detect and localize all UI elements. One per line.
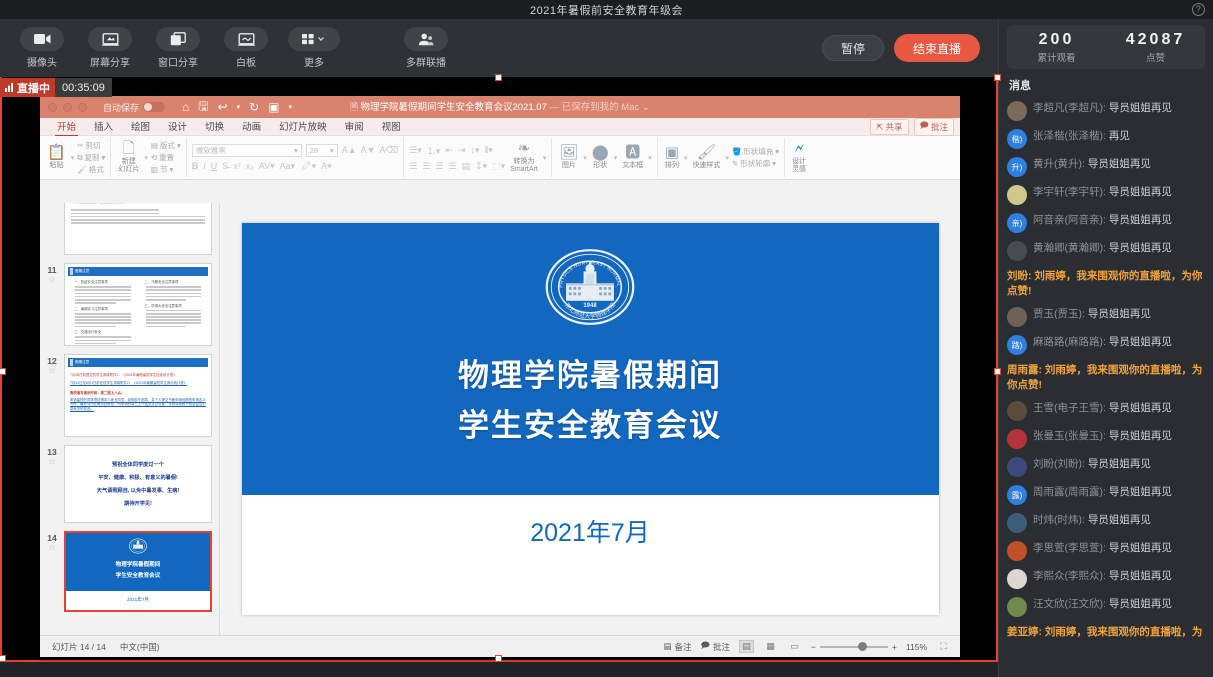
- toolbar-label: 多群联播: [406, 54, 446, 69]
- thumbnail-header-text: 假期注意: [75, 360, 89, 365]
- line-spacing-icon[interactable]: ↕▾: [471, 145, 480, 156]
- ribbon-tab-transitions[interactable]: 切换: [196, 117, 233, 136]
- messages-header: 消息: [999, 69, 1213, 97]
- chat-message: 时炜(时炜): 导员姐姐再见: [1007, 509, 1205, 537]
- chat-message-text: 黄升(黄升): 导员姐姐再见: [1033, 157, 1151, 172]
- section-icon: ▥: [151, 165, 158, 174]
- ppt-doc-state: — 已保存到我的 Mac: [549, 102, 641, 113]
- strikethrough-icon[interactable]: S̶: [222, 161, 228, 171]
- section-dropdown-icon[interactable]: ▾: [169, 165, 173, 174]
- redo-icon[interactable]: ↻: [249, 100, 259, 114]
- chat-message-text: 时炜(时炜): 导员姐姐再见: [1033, 513, 1151, 528]
- capture-handle-bottom[interactable]: [495, 655, 502, 662]
- slide-thumbnail-panel[interactable]: 10 【7月24日下午4点30】 ➤ 7月26日当天可离校（先考完的可以先离校）…: [40, 203, 220, 635]
- numbering-icon[interactable]: ⒈▾: [427, 144, 441, 157]
- normal-view-button[interactable]: ▤: [739, 640, 754, 653]
- wish-line: 天气请照顾自, 以免中暑发事、生病!: [65, 487, 211, 494]
- autosave-switch[interactable]: [143, 102, 165, 112]
- ribbon-tab-animations[interactable]: 动画: [233, 117, 270, 136]
- chat-message: 亲)阿音亲(阿音亲): 导员姐姐再见: [1007, 209, 1205, 237]
- shape-label: 形状: [593, 162, 607, 170]
- justify-icon[interactable]: ☰: [449, 161, 457, 172]
- fit-to-window-button[interactable]: ⛶: [936, 640, 951, 653]
- thumbnail-item-13[interactable]: 13 ☆ 预祝全体同学度过一个 平安、健康、积极、有意义的暑假! 天气请照顾自,…: [40, 441, 219, 527]
- chat-message-sender: 李宇轩(李宇轩):: [1033, 186, 1109, 198]
- italic-icon[interactable]: I: [203, 161, 206, 171]
- copy-icon: ⧉: [77, 153, 82, 163]
- capture-handle-left[interactable]: [0, 368, 6, 375]
- chat-message-text: 王雪(电子王雪): 导员姐姐再见: [1033, 401, 1172, 416]
- chat-message-text: 李熙众(李熙众): 导员姐姐再见: [1033, 569, 1172, 584]
- avatar[interactable]: [1007, 429, 1027, 449]
- new-slide-label: 新建 幻灯片: [118, 158, 139, 174]
- ppt-titlebar: 自动保存 ⌂ 🖫 ↩ ▾ ↻ ▣ ▾ 🗎 物理学院暑假期间学生安全教育会议202…: [40, 96, 960, 118]
- capture-handle-right[interactable]: [994, 368, 1001, 375]
- columns-icon[interactable]: ⫴▾: [485, 145, 493, 156]
- arrange-button[interactable]: ▣ 排列: [663, 145, 681, 170]
- thumbnail-item-14[interactable]: 14 ☆ 物理学院暑假期间: [40, 527, 219, 616]
- slide-title-line1: 物理学院暑假期间: [458, 351, 722, 401]
- avatar[interactable]: [1007, 307, 1027, 327]
- toolbar-item-window-share[interactable]: 窗口分享: [144, 27, 212, 69]
- reset-button[interactable]: ⟲重置: [151, 152, 181, 163]
- chat-message-sender: 黄瀚卿(黄瀚卿):: [1033, 242, 1109, 254]
- pause-button[interactable]: 暂停: [822, 35, 884, 61]
- slide-title-line2: 学生安全教育会议: [458, 401, 722, 451]
- font-name-dropdown-icon[interactable]: ▾: [294, 146, 298, 155]
- thumbnail-star-icon: ☆: [42, 366, 62, 375]
- shapeoutline-label: 形状轮廓: [740, 158, 770, 169]
- text-direction-icon[interactable]: ▤: [462, 161, 471, 172]
- font-size-value: 28: [310, 146, 318, 155]
- autosave-toggle[interactable]: 自动保存: [103, 101, 165, 114]
- toolbar-label: 摄像头: [27, 54, 57, 69]
- copy-button[interactable]: ⧉复制▾: [77, 152, 105, 163]
- comments-btn-label: 批注: [713, 641, 730, 653]
- notes-toggle-button[interactable]: ▤备注: [663, 641, 691, 653]
- paste-label: 粘贴: [49, 162, 63, 170]
- increase-font-size-icon[interactable]: A▲: [342, 145, 357, 155]
- quick-styles-button[interactable]: 🖌 快速样式: [690, 145, 722, 170]
- clear-formatting-icon[interactable]: A⌫: [380, 145, 399, 156]
- picture-label: 图片: [562, 162, 576, 170]
- slide-title-text[interactable]: 物理学院暑假期间 学生安全教育会议: [458, 351, 722, 451]
- shape-fill-dropdown-icon[interactable]: ▾: [775, 147, 779, 156]
- textbox-icon: 🅰: [625, 145, 640, 161]
- comment-button[interactable]: 🗩 批注: [914, 118, 954, 136]
- arrange-dropdown-icon[interactable]: ▾: [684, 154, 688, 162]
- paste-icon: 📋: [47, 145, 66, 161]
- ribbon-group-designer: 🗲 设计 灵感: [785, 138, 813, 177]
- ribbon-toolbar: 📋 粘贴 ▾ ✂剪切 ⧉复制▾ 🖌格式 🗋 新建 幻灯片 ▾ ▤版式▾: [40, 136, 960, 180]
- thumbnail-star-icon: ☆: [42, 275, 62, 284]
- align-left-icon[interactable]: ☰: [409, 161, 417, 172]
- chat-message-text: 张泽楷(张泽楷): 再见: [1033, 129, 1130, 144]
- avatar[interactable]: [1007, 401, 1027, 421]
- layout-dropdown-icon[interactable]: ▾: [177, 141, 181, 150]
- home-icon[interactable]: ⌂: [182, 100, 189, 114]
- avatar[interactable]: 亲): [1007, 213, 1027, 233]
- format-painter-button[interactable]: 🖌格式: [77, 164, 105, 175]
- toolbar-item-camera[interactable]: 摄像头: [8, 27, 76, 69]
- format-painter-icon: 🖌: [77, 165, 87, 174]
- undo-icon[interactable]: ↩: [218, 100, 228, 114]
- wish-line: 平安、健康、积极、有意义的暑假!: [65, 474, 211, 481]
- comments-icon: 🗩: [701, 640, 710, 654]
- chat-message-sender: 张曼玉(张曼玉):: [1033, 430, 1109, 442]
- chat-message-body: 导员姐姐再见: [1109, 430, 1172, 442]
- avatar[interactable]: [1007, 457, 1027, 477]
- avatar[interactable]: 路): [1007, 335, 1027, 355]
- chat-message-sender: 张泽楷(张泽楷):: [1033, 130, 1109, 142]
- ppt-doc-name: 物理学院暑假期间学生安全教育会议2021.07: [360, 102, 546, 113]
- avatar[interactable]: [1007, 513, 1027, 533]
- ribbon-tab-insert[interactable]: 插入: [85, 117, 122, 136]
- stat-likes: 42087 点赞: [1106, 31, 1205, 64]
- notes-icon: ▤: [663, 641, 671, 652]
- quickstyle-label: 快速样式: [692, 162, 720, 170]
- thumbnail-card-selected[interactable]: 物理学院暑假期间 学生安全教育会议 2021年7月: [64, 531, 212, 612]
- shape-button[interactable]: ⬤ 形状: [590, 145, 611, 170]
- thumbnail-item-11[interactable]: 11 ☆ 假期注意 一、防疫安全注意事项 二、暑期实习注意事项: [40, 259, 219, 350]
- cut-button[interactable]: ✂剪切: [77, 140, 105, 151]
- thumbnail-number: 13: [42, 447, 62, 457]
- chat-message: 李超凡(李超凡): 导员姐姐再见: [1007, 97, 1205, 125]
- ribbon-tab-view[interactable]: 视图: [373, 117, 410, 136]
- bold-icon[interactable]: B: [192, 161, 199, 171]
- window-title: 2021年暑假前安全教育年级会: [530, 2, 683, 18]
- ribbon-tab-home[interactable]: 开始: [48, 117, 85, 136]
- decrease-indent-icon[interactable]: ⇤: [445, 145, 453, 156]
- toolbar-label: 白板: [236, 54, 256, 69]
- chat-message-body: 再见: [1109, 130, 1130, 142]
- thumbnail-card[interactable]: 假期注意 7月28日前提交的学生请填附件1：《2021年暑假留校学生信息统计表》…: [64, 354, 212, 437]
- end-stream-button[interactable]: 结束直播: [894, 34, 980, 62]
- increase-indent-icon[interactable]: ⇥: [458, 145, 466, 156]
- section-button[interactable]: ▥节▾: [151, 164, 181, 175]
- zoom-track[interactable]: [820, 646, 888, 648]
- zoom-knob[interactable]: [858, 642, 867, 651]
- thumbnail-number: 14: [42, 533, 62, 543]
- ribbon-tab-design[interactable]: 设计: [159, 117, 196, 136]
- chat-message-sender: 阿音亲(阿音亲):: [1033, 214, 1109, 226]
- text-highlight-icon[interactable]: 🖍▾: [300, 161, 316, 172]
- close-icon[interactable]: [48, 103, 57, 112]
- layout-label: 版式: [160, 140, 175, 151]
- avatar[interactable]: [1007, 241, 1027, 261]
- arrange-label: 排列: [665, 162, 679, 170]
- grid-more-icon: [288, 27, 340, 51]
- zoom-level-label[interactable]: 115%: [906, 642, 927, 652]
- copy-dropdown-icon[interactable]: ▾: [102, 153, 106, 162]
- help-icon[interactable]: ?: [1192, 3, 1205, 16]
- chat-message-sender: 麻路路(麻路路):: [1033, 336, 1109, 348]
- chat-message: 汪文欣(汪文欣): 导员姐姐再见: [1007, 593, 1205, 621]
- smartart-label: 转换为 SmartArt: [510, 158, 538, 174]
- ribbon-group-insert: 🖼 图片 ▾ ⬤ 形状 ▾ 🅰 文本框 ▾: [552, 138, 657, 177]
- avatar[interactable]: [1007, 597, 1027, 617]
- thumbnail-star-icon: ☆: [42, 457, 62, 466]
- textbox-dropdown-icon[interactable]: ▾: [648, 154, 652, 162]
- share-icon: ⇱: [876, 122, 883, 133]
- comment-label: 批注: [931, 121, 948, 133]
- paste-dropdown-icon[interactable]: ▾: [71, 154, 75, 162]
- chat-message-body: 导员姐姐再见: [1109, 486, 1172, 498]
- slide-count-label: 幻灯片 14 / 14: [52, 641, 106, 653]
- comment-icon: 🗩: [920, 120, 929, 134]
- whiteboard-icon: [224, 27, 268, 51]
- chat-message-text: 李宇轩(李宇轩): 导员姐姐再见: [1033, 185, 1172, 200]
- align-text-icon[interactable]: ↧▾: [475, 161, 487, 172]
- avatar[interactable]: [1007, 541, 1027, 561]
- thumb-slide-title-2: 学生安全教育会议: [116, 571, 161, 579]
- chat-message-body: 导员姐姐再见: [1109, 242, 1172, 254]
- live-timer: 00:35:09: [55, 78, 112, 97]
- message-list[interactable]: 李超凡(李超凡): 导员姐姐再见楷)张泽楷(张泽楷): 再见升)黄升(黄升): …: [999, 97, 1213, 677]
- chat-message-body: 导员姐姐再见: [1109, 102, 1172, 114]
- paste-button[interactable]: 📋 粘贴: [45, 145, 68, 170]
- cut-icon: ✂: [77, 141, 83, 150]
- capture-handle-top[interactable]: [495, 74, 502, 81]
- thumb-slide-date: 2021年7月: [66, 591, 210, 603]
- chat-message-body: 导员姐姐再见: [1109, 336, 1172, 348]
- avatar[interactable]: [1007, 185, 1027, 205]
- section-label: 节: [160, 164, 168, 175]
- stream-stats: 200 累计观看 42087 点赞: [1007, 25, 1205, 69]
- signal-icon: [5, 83, 14, 92]
- chat-message: 王雪(电子王雪): 导员姐姐再见: [1007, 397, 1205, 425]
- ribbon-group-clipboard: 📋 粘贴 ▾ ✂剪切 ⧉复制▾ 🖌格式: [40, 138, 111, 177]
- quick-styles-dropdown-icon[interactable]: ▾: [725, 154, 729, 162]
- screen-share-icon: [88, 27, 132, 51]
- chat-message-body: 导员姐姐再见: [1109, 598, 1172, 610]
- picture-dropdown-icon[interactable]: ▾: [583, 154, 587, 162]
- convert-to-smartart-button[interactable]: ❧ 转换为 SmartArt: [508, 141, 540, 174]
- avatar[interactable]: 楷): [1007, 129, 1027, 149]
- powerpoint-window: 自动保存 ⌂ 🖫 ↩ ▾ ↻ ▣ ▾ 🗎 物理学院暑假期间学生安全教育会议202…: [40, 96, 960, 657]
- chat-message: 李宇轩(李宇轩): 导员姐姐再见: [1007, 181, 1205, 209]
- shape-fill-button[interactable]: 🪣形状填充▾: [732, 146, 779, 157]
- textbox-label: 文本框: [622, 162, 643, 170]
- chat-message: 楷)张泽楷(张泽楷): 再见: [1007, 125, 1205, 153]
- toolbar-item-multi-group[interactable]: 多群联播: [392, 27, 460, 69]
- ribbon-group-paragraph: ☰▾ ⒈▾ ⇤ ⇥ ↕▾ ⫴▾ ☰ ☰ ☰ ☰ ▤ ↧▾ ⬚▾: [404, 138, 552, 177]
- live-indicator: 直播中 00:35:09: [0, 78, 112, 97]
- like-count: 42087: [1106, 31, 1205, 49]
- toolbar-item-screen-share[interactable]: 屏幕分享: [76, 27, 144, 69]
- toolbar-item-whiteboard[interactable]: 白板: [212, 27, 280, 69]
- minimize-icon[interactable]: [63, 103, 72, 112]
- ribbon-group-font: 微软雅黑▾ 28▾ A▲ A▼ A⌫ B I U S̶ x: [187, 138, 405, 177]
- ribbon-tab-draw[interactable]: 绘图: [122, 117, 159, 136]
- zoom-out-button[interactable]: −: [811, 642, 816, 652]
- chat-message-text: 刘盼(刘盼): 导员姐姐再见: [1033, 457, 1151, 472]
- chat-message: 李熙众(李熙众): 导员姐姐再见: [1007, 565, 1205, 593]
- picture-icon: 🖼: [559, 145, 578, 161]
- chat-message-body: 导员姐姐再见: [1109, 570, 1172, 582]
- thumb-slide-title-1: 物理学院暑假期间: [116, 560, 161, 568]
- thumbnail-card[interactable]: 假期注意 一、防疫安全注意事项 二、暑期实习注意事项 三、交通出行安全: [64, 263, 212, 346]
- comments-toggle-button[interactable]: 🗩批注: [701, 640, 730, 654]
- chat-message: 刘盼(刘盼): 导员姐姐再见: [1007, 453, 1205, 481]
- window-titlebar: 2021年暑假前安全教育年级会 ?: [0, 0, 1213, 19]
- ppt-doc-dropdown-icon[interactable]: ⌄: [642, 102, 650, 113]
- chat-message-sender: 李思萱(李思萱):: [1033, 542, 1109, 554]
- start-slideshow-icon[interactable]: ▣: [268, 100, 279, 114]
- chat-message-body: 导员姐姐再见: [1088, 514, 1151, 526]
- chat-message-sender: 汪文欣(汪文欣):: [1033, 598, 1109, 610]
- avatar[interactable]: 露): [1007, 485, 1027, 505]
- chat-message-text: 汪文欣(汪文欣): 导员姐姐再见: [1033, 597, 1172, 612]
- chat-message-text: 麻路路(麻路路): 导员姐姐再见: [1033, 335, 1172, 350]
- reading-view-button[interactable]: ▭: [787, 640, 802, 653]
- character-spacing-icon[interactable]: AV▾: [259, 161, 275, 172]
- ppt-document-title: 🗎 物理学院暑假期间学生安全教育会议2021.07 — 已保存到我的 Mac ⌄: [40, 99, 960, 116]
- shape-outline-dropdown-icon[interactable]: ▾: [772, 159, 776, 168]
- avatar[interactable]: 升): [1007, 157, 1027, 177]
- chat-notice: 刘盼: 刘雨婷，我来围观你的直播啦，为你点赞!: [1007, 265, 1205, 303]
- picture-button[interactable]: 🖼 图片: [557, 145, 580, 170]
- smartart-dropdown-icon[interactable]: ▾: [543, 154, 547, 162]
- format-label: 格式: [89, 164, 104, 175]
- font-color-icon[interactable]: A▾: [321, 161, 332, 172]
- thumbnail-header: 假期注意: [68, 267, 208, 276]
- shape-dropdown-icon[interactable]: ▾: [614, 154, 618, 162]
- decrease-font-size-icon[interactable]: A▼: [361, 145, 376, 155]
- wish-line: 期待开学见!: [65, 500, 211, 507]
- align-center-icon[interactable]: ☰: [422, 161, 430, 172]
- ribbon-tab-review[interactable]: 审阅: [336, 117, 373, 136]
- slide-date-text[interactable]: 2021年7月: [242, 513, 939, 549]
- font-size-dropdown-icon[interactable]: ▾: [330, 146, 334, 155]
- font-name-value: 微软雅黑: [196, 145, 226, 156]
- shapefill-label: 形状填充: [743, 146, 773, 157]
- design-ideas-icon: 🗲: [794, 141, 804, 157]
- quick-styles-icon: 🖌: [697, 145, 716, 161]
- copy-label: 复制: [85, 152, 100, 163]
- chat-message: 黄瀚卿(黄瀚卿): 导员姐姐再见: [1007, 237, 1205, 265]
- chat-message-sender: 贾玉(贾玉):: [1033, 308, 1088, 320]
- thumbnail-item-10[interactable]: 10 【7月24日下午4点30】 ➤ 7月26日当天可离校（先考完的可以先离校）…: [40, 203, 219, 259]
- new-slide-icon: 🗋: [123, 141, 135, 157]
- superscript-icon[interactable]: x²: [233, 161, 241, 171]
- thumbnail-card[interactable]: 【7月24日下午4点30】 ➤ 7月26日当天可离校（先考完的可以先离校） ➤ …: [64, 203, 212, 255]
- designideas-label: 设计 灵感: [792, 158, 806, 174]
- stream-toolbar: 摄像头 屏幕分享 窗口分享 白板 更多: [0, 19, 998, 77]
- save-icon[interactable]: 🖫: [198, 97, 208, 118]
- chat-message-body: 导员姐姐再见: [1109, 214, 1172, 226]
- chat-panel: 200 累计观看 42087 点赞 消息 李超凡(李超凡): 导员姐姐再见楷)张…: [998, 19, 1213, 677]
- subscript-icon[interactable]: x₂: [246, 161, 254, 171]
- zoom-in-button[interactable]: +: [892, 642, 897, 652]
- chat-message-text: 张曼玉(张曼玉): 导员姐姐再见: [1033, 429, 1172, 444]
- layout-button[interactable]: ▤版式▾: [151, 140, 181, 151]
- bullets-icon[interactable]: ☰▾: [409, 145, 422, 156]
- thumbnail-card[interactable]: 预祝全体同学度过一个 平安、健康、积极、有意义的暑假! 天气请照顾自, 以免中暑…: [64, 445, 212, 523]
- ppt-body: 10 【7月24日下午4点30】 ➤ 7月26日当天可离校（先考完的可以先离校）…: [40, 203, 960, 635]
- chat-message: 张曼玉(张曼玉): 导员姐姐再见: [1007, 425, 1205, 453]
- slide-sorter-view-button[interactable]: ▦: [763, 640, 778, 653]
- chat-message-sender: 周雨露(周雨露):: [1033, 486, 1109, 498]
- share-button[interactable]: ⇱ 共享: [870, 119, 908, 135]
- chat-message: 路)麻路路(麻路路): 导员姐姐再见: [1007, 331, 1205, 359]
- cut-label: 剪切: [86, 140, 101, 151]
- wish-line: 预祝全体同学度过一个: [65, 461, 211, 468]
- live-tag: 直播中: [0, 78, 55, 97]
- smartart-icon: ❧: [518, 141, 531, 157]
- new-slide-button[interactable]: 🗋 新建 幻灯片: [116, 141, 141, 174]
- avatar[interactable]: [1007, 569, 1027, 589]
- capture-handle-bottom-left[interactable]: [0, 655, 6, 662]
- chat-message-body: 导员姐姐再见: [1088, 308, 1151, 320]
- slide-title-block: SCHOOL OF PHYSICS NORTHEAST NORMAL UNIVE…: [242, 223, 939, 495]
- shape-outline-icon: ✎: [732, 159, 738, 168]
- font-name-select[interactable]: 微软雅黑▾: [192, 144, 302, 157]
- language-label[interactable]: 中文(中国): [120, 641, 160, 653]
- zoom-slider[interactable]: − +: [811, 642, 897, 652]
- stream-controls: 暂停 结束直播: [822, 19, 998, 77]
- current-slide[interactable]: SCHOOL OF PHYSICS NORTHEAST NORMAL UNIVE…: [242, 223, 939, 615]
- convert-shape-icon[interactable]: ⬚▾: [492, 161, 505, 172]
- stat-viewers: 200 累计观看: [1007, 31, 1106, 64]
- arrange-icon: ▣: [665, 145, 679, 161]
- ribbon-tabs: 开始 插入 绘图 设计 切换 动画 幻灯片放映 审阅 视图: [40, 118, 960, 136]
- capture-handle-top-right[interactable]: [994, 74, 1001, 81]
- toolbar-label: 窗口分享: [158, 54, 198, 69]
- thumbnail-header: 假期注意: [68, 358, 208, 367]
- chat-message-sender: 李超凡(李超凡):: [1033, 102, 1109, 114]
- chat-message-sender: 时炜(时炜):: [1033, 514, 1088, 526]
- ribbon-group-drawing: ▣ 排列 ▾ 🖌 快速样式 ▾ 🪣形状填充▾ ✎形状轮廓▾: [658, 138, 785, 177]
- university-logo-icon: SCHOOL OF PHYSICS NORTHEAST NORMAL UNIVE…: [544, 241, 636, 333]
- new-slide-dropdown-icon[interactable]: ▾: [144, 154, 148, 162]
- underline-icon[interactable]: U: [211, 161, 218, 171]
- shape-outline-button[interactable]: ✎形状轮廓▾: [732, 158, 779, 169]
- share-label: 共享: [886, 121, 903, 133]
- ribbon-tab-slideshow[interactable]: 幻灯片放映: [270, 117, 336, 136]
- chat-message-text: 李超凡(李超凡): 导员姐姐再见: [1033, 101, 1172, 116]
- chat-message-body: 导员姐姐再见: [1088, 458, 1151, 470]
- maximize-icon[interactable]: [78, 103, 87, 112]
- chat-message-text: 阿音亲(阿音亲): 导员姐姐再见: [1033, 213, 1172, 228]
- chat-message-body: 导员姐姐再见: [1109, 542, 1172, 554]
- toolbar-label: 更多: [304, 54, 324, 69]
- toolbar-label: 屏幕分享: [90, 54, 130, 69]
- qat-overflow-icon[interactable]: ▾: [288, 103, 292, 111]
- thumbnail-number: 12: [42, 356, 62, 366]
- chat-message-text: 周雨露(周雨露): 导员姐姐再见: [1033, 485, 1172, 500]
- chat-message-body: 导员姐姐再见: [1109, 402, 1172, 414]
- design-ideas-button[interactable]: 🗲 设计 灵感: [790, 141, 808, 174]
- chat-message-body: 导员姐姐再见: [1109, 186, 1172, 198]
- align-right-icon[interactable]: ☰: [435, 161, 443, 172]
- ppt-statusbar: 幻灯片 14 / 14 中文(中国) ▤备注 🗩批注 ▤ ▦ ▭ − + 115…: [40, 635, 960, 657]
- font-size-select[interactable]: 28▾: [306, 144, 338, 157]
- toolbar-item-more[interactable]: 更多: [280, 27, 348, 69]
- window-share-icon: [156, 27, 200, 51]
- chat-message-text: 贾玉(贾玉): 导员姐姐再见: [1033, 307, 1151, 322]
- thumbnail-item-12[interactable]: 12 ☆ 假期注意 7月28日前提交的学生请填附件1：《2021年暑假留校学生信…: [40, 350, 219, 441]
- shape-icon: ⬤: [592, 145, 609, 161]
- reset-icon: ⟲: [151, 153, 157, 162]
- chat-message-sender: 李熙众(李熙众):: [1033, 570, 1109, 582]
- avatar[interactable]: [1007, 101, 1027, 121]
- textbox-button[interactable]: 🅰 文本框: [620, 145, 645, 170]
- undo-dropdown-icon[interactable]: ▾: [237, 103, 241, 111]
- slide-editing-pane[interactable]: SCHOOL OF PHYSICS NORTHEAST NORMAL UNIVE…: [220, 203, 960, 635]
- chat-message: 李思萱(李思萱): 导员姐姐再见: [1007, 537, 1205, 565]
- change-case-icon[interactable]: Aa▾: [280, 161, 296, 172]
